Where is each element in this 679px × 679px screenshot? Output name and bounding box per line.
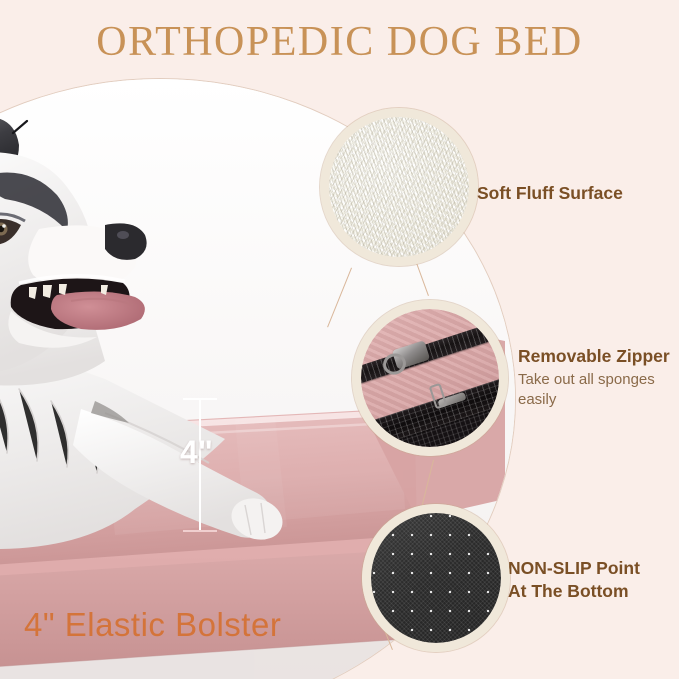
- feature-label-non-slip: NON-SLIP Point At The Bottom: [508, 557, 640, 603]
- feature-subtext-removable-zipper: Take out all sponges easily: [518, 370, 678, 410]
- feature-heading-non-slip-line1: NON-SLIP Point: [508, 557, 640, 580]
- dimension-value: 4": [180, 434, 213, 471]
- feature-swatch-non-slip: [362, 504, 510, 652]
- feature-heading-non-slip-line2: At The Bottom: [508, 580, 640, 603]
- feature-heading-removable-zipper: Removable Zipper: [518, 345, 678, 368]
- feature-swatch-soft-fluff: [320, 108, 478, 266]
- feature-swatch-removable-zipper: [352, 300, 508, 456]
- feature-heading-soft-fluff: Soft Fluff Surface: [477, 182, 623, 205]
- page-title: ORTHOPEDIC DOG BED: [0, 18, 679, 66]
- bolster-headline: 4" Elastic Bolster: [24, 606, 281, 644]
- product-infographic: ORTHOPEDIC DOG BED Soft Fluff Surface Re…: [0, 0, 679, 679]
- non-slip-texture: [371, 513, 501, 643]
- zipper-photo: [361, 309, 499, 447]
- fluff-texture: [329, 117, 469, 257]
- feature-label-soft-fluff: Soft Fluff Surface: [477, 182, 623, 205]
- feature-label-removable-zipper: Removable Zipper Take out all sponges ea…: [518, 345, 678, 409]
